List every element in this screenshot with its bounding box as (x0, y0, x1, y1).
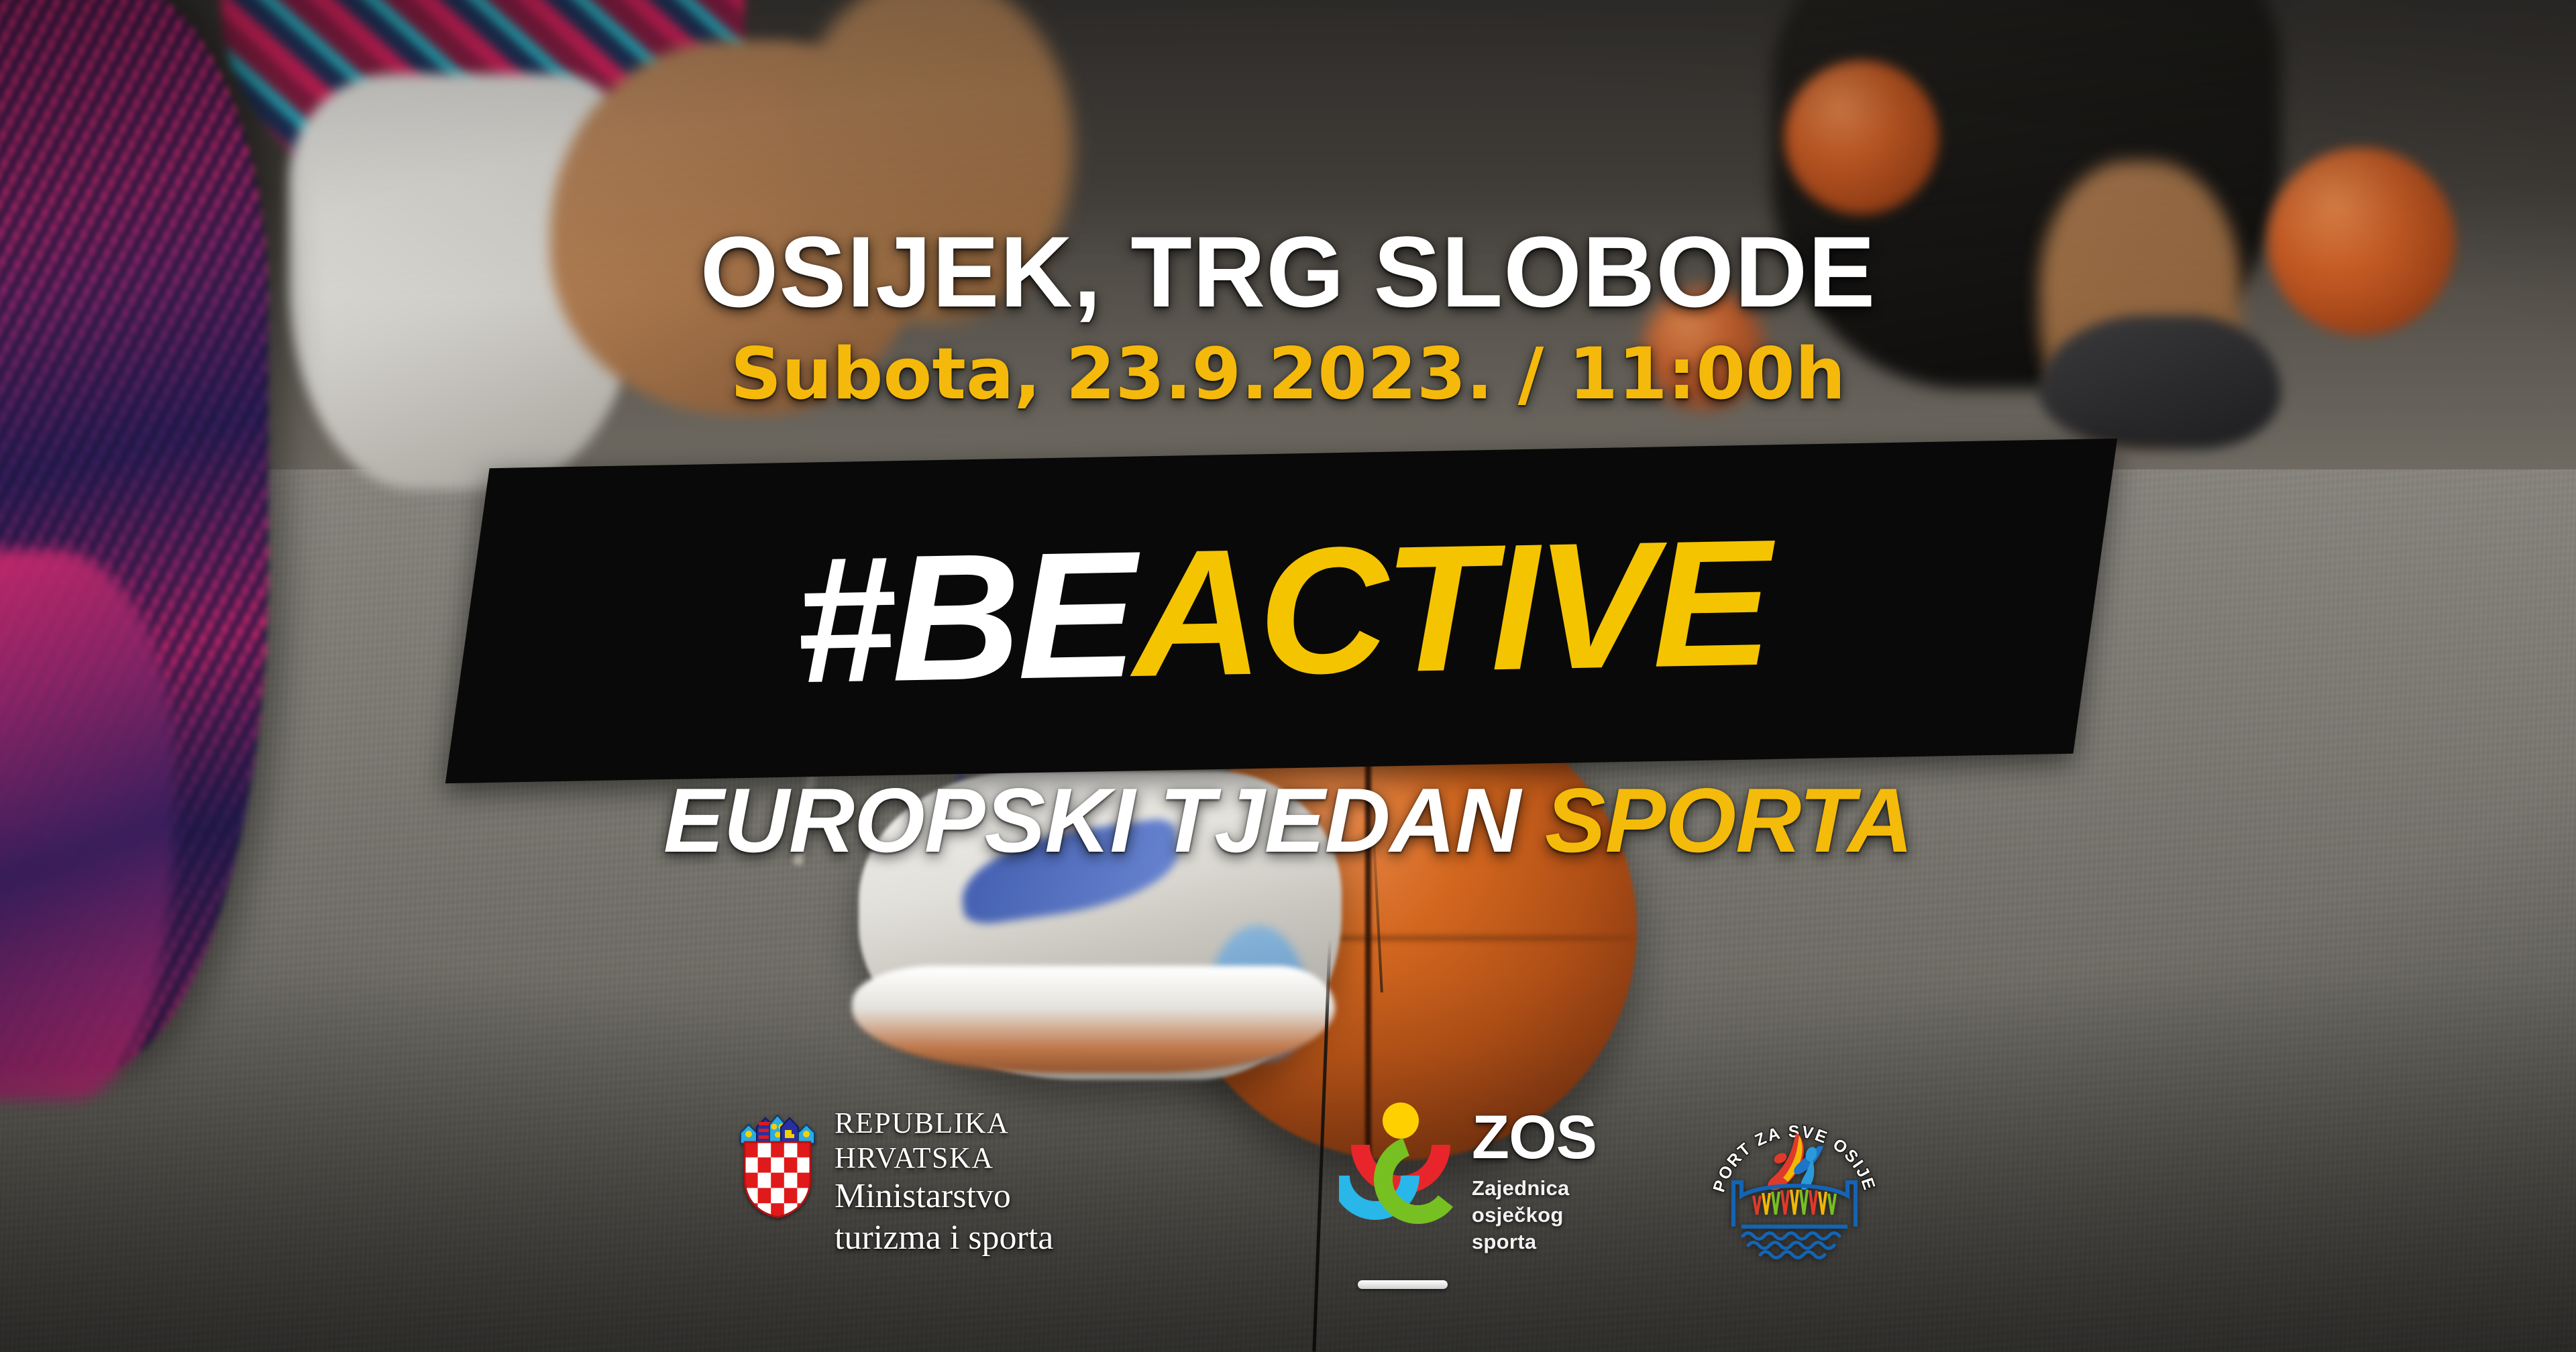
tagline: EUROPSKI TJEDAN SPORTA (0, 775, 2576, 866)
zos-wordmark: ZOS (1472, 1109, 1597, 1167)
location-headline: OSIJEK, TRG SLOBODE (0, 221, 2576, 322)
ministry-line-republika: REPUBLIKA HRVATSKA (835, 1106, 1144, 1176)
zos-subtitle-line3: sporta (1472, 1229, 1597, 1255)
zos-subtitle: Zajednica osječkog sporta (1472, 1175, 1597, 1255)
ministry-line-ministarstvo: Ministarstvo (835, 1176, 1144, 1217)
poster-canvas: OSIJEK, TRG SLOBODE Subota, 23.9.2023. /… (0, 0, 2576, 1352)
zos-subtitle-line2: osječkog (1472, 1202, 1597, 1229)
zos-subtitle-line1: Zajednica (1472, 1175, 1597, 1202)
beactive-wordmark: #BEACTIVE (467, 439, 2096, 783)
poster-content: OSIJEK, TRG SLOBODE Subota, 23.9.2023. /… (0, 0, 2576, 1352)
tagline-yellow-part: SPORTA (1545, 769, 1913, 871)
ministry-text-block: REPUBLIKA HRVATSKA Ministarstvo turizma … (835, 1106, 1144, 1259)
zos-figure-icon (1339, 1101, 1457, 1255)
date-time-line: Subota, 23.9.2023. / 11:00h (0, 339, 2576, 410)
logo-ministry-of-tourism-and-sport[interactable]: REPUBLIKA HRVATSKA Ministarstvo turizma … (738, 1090, 1144, 1259)
beactive-suffix: ACTIVE (1131, 512, 1770, 703)
sport-za-sve-osijek-emblem-icon: SPORT ZA SVE OSIJEK (1711, 1094, 1878, 1261)
logo-sport-za-sve-osijek[interactable]: SPORT ZA SVE OSIJEK (1711, 1094, 1878, 1261)
tagline-white-part: EUROPSKI TJEDAN (663, 769, 1545, 871)
beactive-prefix: #BE (794, 524, 1134, 710)
beactive-logo: #BEACTIVE (470, 453, 2093, 769)
zos-underline-bar (1358, 1280, 1448, 1289)
ministry-line-turizma: turizma i sporta (835, 1217, 1144, 1259)
croatian-coat-of-arms-icon (738, 1106, 817, 1219)
zos-text-block: ZOS Zajednica osječkog sporta (1472, 1109, 1597, 1255)
partner-logo-row: REPUBLIKA HRVATSKA Ministarstvo turizma … (724, 1090, 1878, 1291)
logo-zos[interactable]: ZOS Zajednica osječkog sporta (1339, 1090, 1597, 1255)
